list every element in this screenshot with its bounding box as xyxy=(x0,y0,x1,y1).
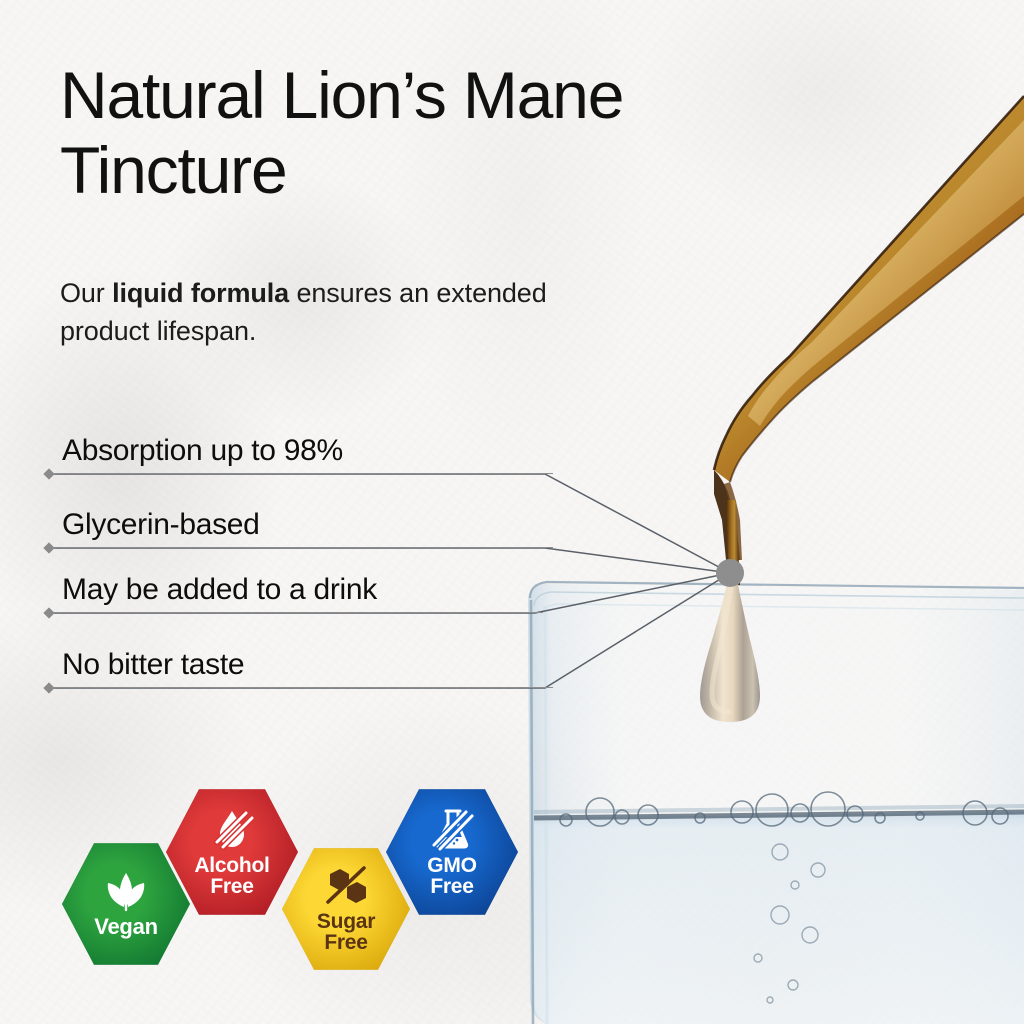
sugar-cubes-slash-icon xyxy=(323,865,369,907)
badge-label: Vegan xyxy=(94,916,158,938)
badge-label: Alcohol Free xyxy=(194,855,269,898)
feature-label: Glycerin-based xyxy=(62,508,260,542)
feature-underline xyxy=(53,687,553,688)
feature-label: No bitter taste xyxy=(62,648,244,682)
badge-label: Sugar Free xyxy=(317,911,375,954)
product-infographic: Natural Lion’s Mane Tincture Our liquid … xyxy=(0,0,1024,1024)
leaf-icon xyxy=(103,870,149,912)
flask-slash-icon xyxy=(429,807,475,851)
feature-underline xyxy=(53,473,553,474)
feature-label: May be added to a drink xyxy=(62,573,377,607)
feature-underline xyxy=(53,612,543,613)
feature-underline xyxy=(53,547,553,548)
droplet-slash-icon xyxy=(210,807,254,851)
feature-label: Absorption up to 98% xyxy=(62,434,343,468)
badge-label: GMO Free xyxy=(427,855,476,898)
